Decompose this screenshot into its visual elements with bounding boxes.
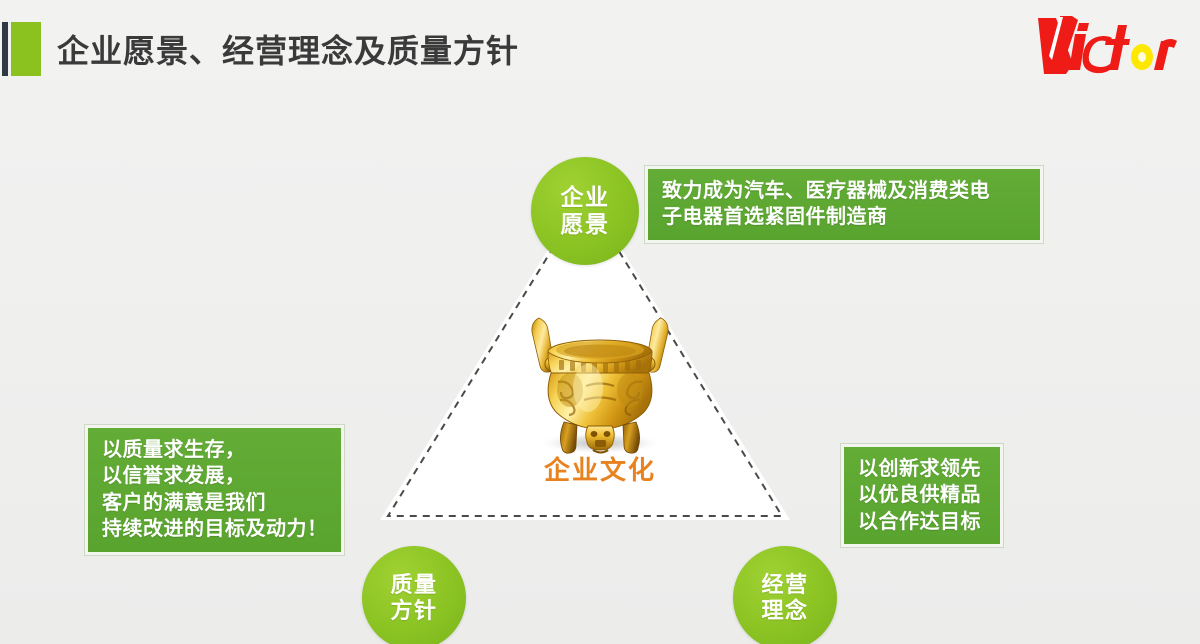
corporate-culture-label: 企业文化: [480, 450, 720, 487]
callout-business-philosophy-line-3: 以合作达目标: [858, 509, 986, 535]
node-vision-line-2: 愿景: [561, 211, 610, 238]
callout-quality-policy-line-4: 持续改进的目标及动力！: [102, 516, 327, 542]
corporate-culture-center: 企业文化: [480, 300, 720, 500]
ding-leg-left: [560, 422, 577, 453]
node-vision-line-1: 企业: [561, 184, 610, 211]
callout-quality-policy-line-1: 以质量求生存，: [102, 437, 327, 463]
header-accent-bar: [2, 22, 8, 76]
node-quality-policy-line-1: 质量: [390, 572, 437, 598]
node-quality-policy[interactable]: 质量 方针: [362, 546, 466, 644]
callout-business-philosophy: 以创新求领先 以优良供精品 以合作达目标: [841, 444, 1003, 547]
node-business-philosophy-line-1: 经营: [761, 572, 808, 598]
callout-business-philosophy-line-1: 以创新求领先: [858, 456, 986, 482]
callout-business-philosophy-line-2: 以优良供精品: [858, 482, 986, 508]
page-title: 企业愿景、经营理念及质量方针: [57, 22, 519, 76]
node-business-philosophy[interactable]: 经营 理念: [733, 546, 837, 644]
node-quality-policy-line-2: 方针: [390, 598, 437, 624]
callout-vision-line-1: 致力成为汽车、医疗器械及消费类电: [662, 178, 1026, 204]
callout-vision: 致力成为汽车、医疗器械及消费类电 子电器首选紧固件制造商: [645, 166, 1043, 243]
callout-quality-policy-line-2: 以信誉求发展，: [102, 463, 327, 489]
slide-canvas: 企业愿景、经营理念及质量方针: [0, 0, 1200, 644]
callout-quality-policy-line-3: 客户的满意是我们: [102, 490, 327, 516]
node-business-philosophy-line-2: 理念: [761, 598, 808, 624]
callout-vision-line-2: 子电器首选紧固件制造商: [662, 204, 1026, 230]
slide-header: 企业愿景、经营理念及质量方针: [0, 0, 1200, 100]
ding-leg-right: [623, 422, 640, 453]
header-accent-square: [11, 22, 41, 76]
victor-logo-svg: [1030, 12, 1180, 82]
golden-ding-vessel-icon: [480, 300, 720, 460]
callout-quality-policy: 以质量求生存， 以信誉求发展， 客户的满意是我们 持续改进的目标及动力！: [85, 425, 344, 555]
node-vision[interactable]: 企业 愿景: [531, 157, 639, 265]
relationship-diagram: 企业文化 企业 愿景 质量 方针 经营 理念 致力成为汽车、医疗器械及消费类电 …: [0, 100, 1200, 644]
victor-logo: [1030, 12, 1180, 82]
